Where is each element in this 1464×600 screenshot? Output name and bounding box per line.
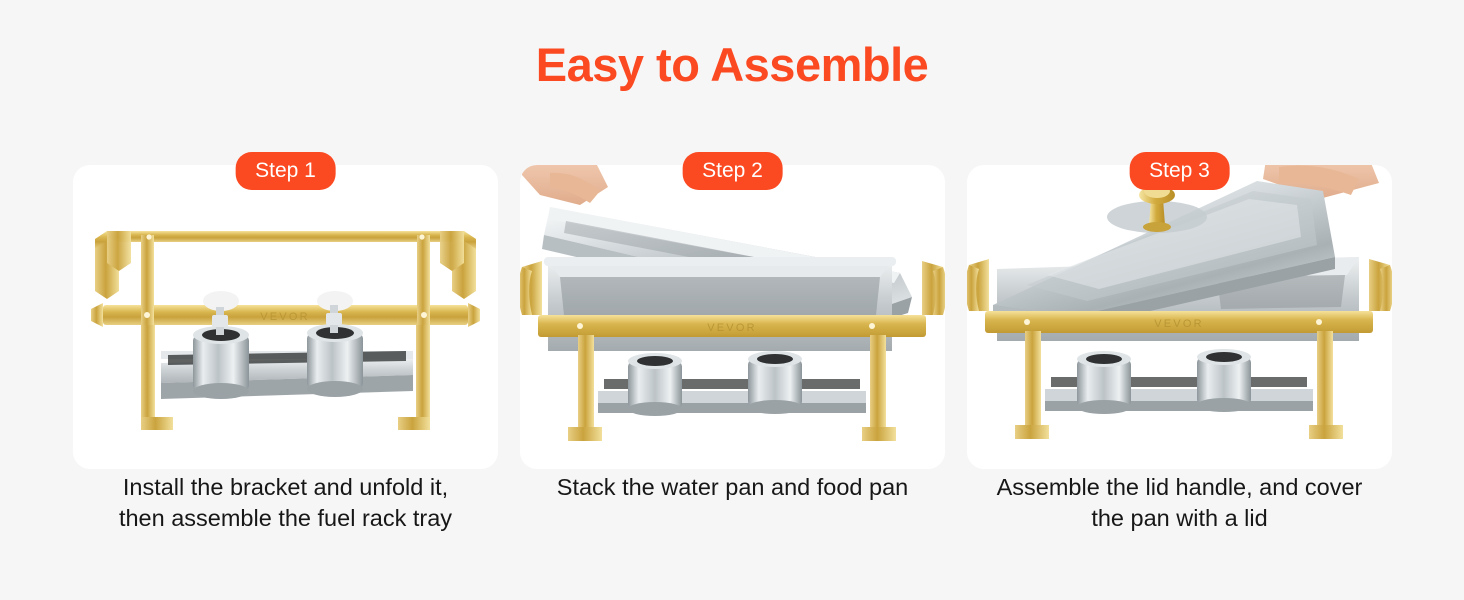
step-card-1-surface: VEVOR xyxy=(73,165,498,469)
fuel-can-left xyxy=(628,353,682,416)
product-image-bracket-frame: VEVOR xyxy=(73,165,498,469)
step-caption-1-line2: then assemble the fuel rack tray xyxy=(73,503,498,534)
step-caption-3-line1: Assemble the lid handle, and cover xyxy=(967,472,1392,503)
brand-mark-step3: VEVOR xyxy=(1154,318,1204,330)
step-caption-1-line1: Install the bracket and unfold it, xyxy=(73,472,498,503)
step-card-2: VEVOR xyxy=(520,165,945,469)
captions-row: Install the bracket and unfold it, then … xyxy=(73,472,1392,534)
step-card-1: VEVOR xyxy=(73,165,498,469)
step-badge-2: Step 2 xyxy=(682,152,783,190)
step-caption-3: Assemble the lid handle, and cover the p… xyxy=(967,472,1392,534)
step-caption-3-line2: the pan with a lid xyxy=(967,503,1392,534)
step-card-3: VEVOR xyxy=(967,165,1392,469)
product-image-pans-stacking: VEVOR xyxy=(520,165,945,469)
step-caption-1: Install the bracket and unfold it, then … xyxy=(73,472,498,534)
brand-mark-step2: VEVOR xyxy=(707,322,757,334)
fuel-can-left xyxy=(1077,351,1131,414)
fuel-can-right xyxy=(748,351,802,414)
steps-gallery: VEVOR xyxy=(73,165,1392,469)
product-image-lid-cover: VEVOR xyxy=(967,165,1392,469)
page-title: Easy to Assemble xyxy=(0,38,1464,92)
step-card-3-surface: VEVOR xyxy=(967,165,1392,469)
step-caption-2: Stack the water pan and food pan xyxy=(520,472,945,534)
step-card-2-surface: VEVOR xyxy=(520,165,945,469)
step-badge-3: Step 3 xyxy=(1129,152,1230,190)
step-caption-2-line1: Stack the water pan and food pan xyxy=(520,472,945,503)
step-badge-1: Step 1 xyxy=(235,152,336,190)
fuel-can-right xyxy=(1197,349,1251,412)
brand-mark-step1: VEVOR xyxy=(260,311,310,323)
